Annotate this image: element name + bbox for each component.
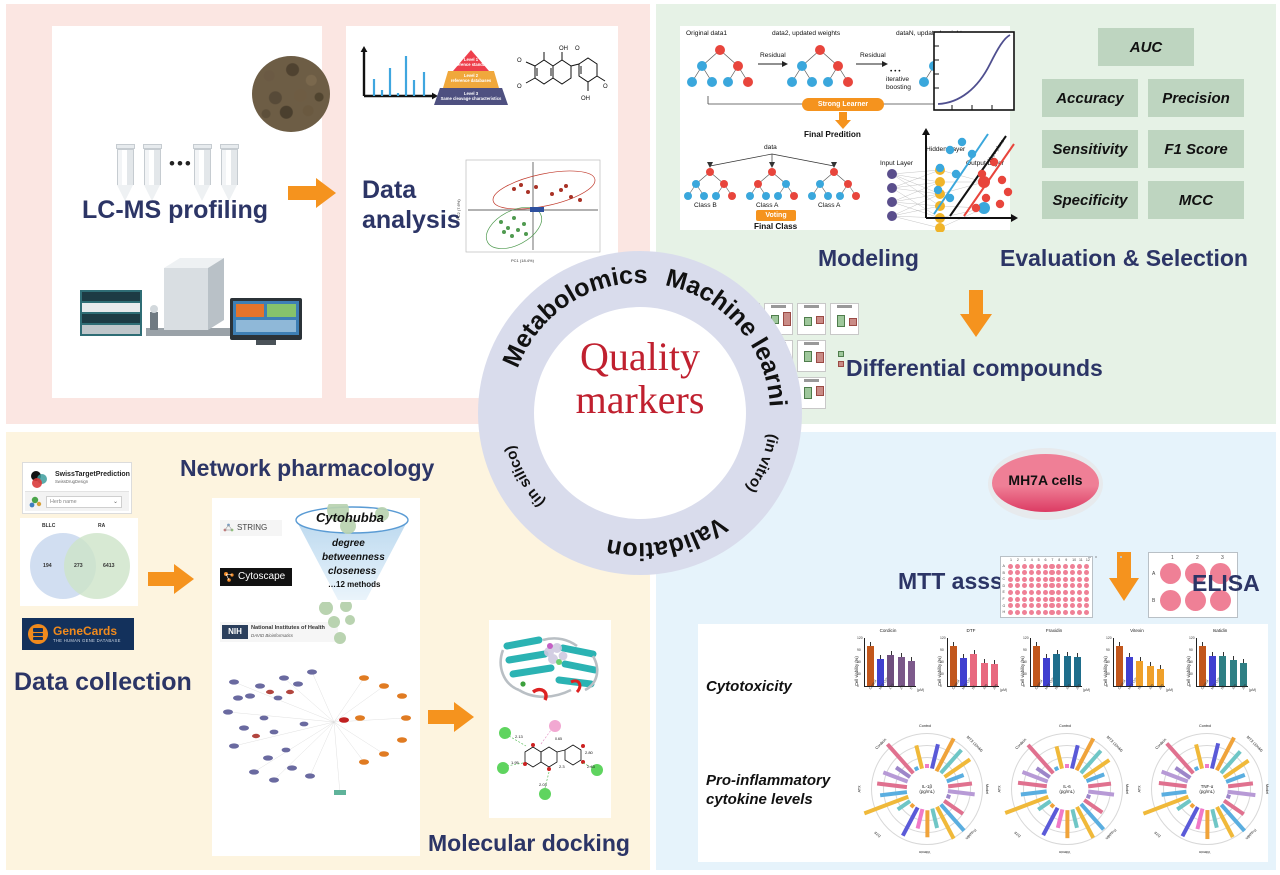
venn-count-overlap: 273 <box>74 563 83 569</box>
polar-bar <box>1065 764 1069 768</box>
polar-bar <box>1205 764 1209 768</box>
plate-well <box>1015 610 1020 615</box>
genecards-title: GeneCards <box>53 624 117 638</box>
svg-text:PC2 (7.6%): PC2 (7.6%) <box>456 199 461 220</box>
swisstarget-search-row: Herb name ⌄ <box>25 491 129 511</box>
plate-well <box>1077 597 1082 602</box>
plate-well <box>1022 583 1027 588</box>
chart-error-bar <box>963 654 964 658</box>
cytohubba-title: Cytohubba <box>316 510 384 525</box>
docking-interaction-diagram: 2.13 0.65 1.95 2.03 2.80 2.43 2.3 <box>493 716 607 812</box>
chart-y-tick: 30 <box>1189 672 1193 676</box>
svm-hyperplane-plot: Hyperplane <box>916 128 1018 228</box>
cytokine-polar-chart: IL-6(pg/mL)ControlMTX (10nM)ModelFraxidi… <box>1006 728 1128 850</box>
plate-well <box>1049 583 1054 588</box>
chart-y-tick: 0 <box>940 684 942 688</box>
elisa-plate <box>1120 556 1122 558</box>
plate-row-label: B <box>1003 571 1005 575</box>
cytoscape-logo[interactable]: Cytoscape <box>220 568 292 586</box>
roc-curve-plot <box>930 30 1018 116</box>
chart-y-axis <box>1030 638 1031 686</box>
plate-well <box>1015 583 1020 588</box>
pyramid-level-1-text: Level 1 Reference standards <box>434 57 508 67</box>
plate-well <box>1029 603 1034 608</box>
plate-well <box>1063 564 1068 569</box>
chart-y-tick: 0 <box>1106 684 1108 688</box>
plate6-col-label: 1 <box>1171 555 1174 561</box>
polar-group-label: Vitexin <box>919 850 930 854</box>
plate-well <box>1036 577 1041 582</box>
plate-well <box>1063 583 1068 588</box>
cytotoxicity-bar-chart: IsatidinCell viability (%)0306090120Cont… <box>1180 628 1260 720</box>
chart-error-bar <box>1057 650 1058 654</box>
chart-bar <box>1136 661 1143 686</box>
chart-y-tick: 60 <box>940 660 944 664</box>
chart-y-axis <box>947 638 948 686</box>
molecule-icon <box>28 495 43 510</box>
svg-text:OH: OH <box>581 96 590 102</box>
chart-error-bar <box>901 653 902 657</box>
nih-subtitle: DAVID Bioinformatics <box>251 633 293 638</box>
boxplot-box-group-b <box>849 318 857 326</box>
chart-y-tick: 30 <box>1106 672 1110 676</box>
chart-bar <box>908 661 915 686</box>
plate-well <box>1070 603 1075 608</box>
chart-y-tick: 0 <box>1023 684 1025 688</box>
svg-text:0.65: 0.65 <box>555 737 562 741</box>
boxplot-title <box>831 305 858 308</box>
cytotoxicity-bar-chart: FraxidinCell viability (%)0306090120Cont… <box>1014 628 1094 720</box>
six-well-plate <box>1095 556 1097 558</box>
plate-well <box>1029 577 1034 582</box>
plate-well <box>1070 577 1075 582</box>
chart-y-tick: 120 <box>1189 636 1195 640</box>
cytotoxicity-bar-chart: VitexinCell viability (%)0306090120Contr… <box>1097 628 1177 720</box>
plate-col-label: 4 <box>1031 558 1033 562</box>
polar-group-label: Control <box>1059 724 1071 728</box>
genecards-logo[interactable]: GeneCards THE HUMAN GENE DATABASE <box>22 618 134 650</box>
plate-well <box>1043 610 1048 615</box>
boxplot-box-group-a <box>804 387 812 399</box>
boxplot-title <box>798 342 825 345</box>
arrow-to-differential-compounds <box>958 290 994 338</box>
network-analysis-card: STRING Cytoscape NIH National Institutes… <box>212 498 420 856</box>
polar-group-label: Control <box>919 724 931 728</box>
plate-well <box>1008 577 1013 582</box>
plate-well <box>1070 597 1075 602</box>
heading-evaluation-selection: Evaluation & Selection <box>1000 245 1248 272</box>
chart-error-bar <box>1077 653 1078 657</box>
plate-well <box>1008 590 1013 595</box>
central-concept-ring: Metabolomics Machine learning (in vitro)… <box>478 251 802 575</box>
chart-y-tick: 120 <box>857 636 863 640</box>
chart-x-tick: 50 <box>1137 685 1142 690</box>
plate-well <box>1022 610 1027 615</box>
metric-mcc: MCC <box>1148 181 1244 219</box>
plate-well <box>1043 570 1048 575</box>
swisstargetprediction-widget[interactable]: SwissTargetPrediction SwissDrugDesign He… <box>22 462 132 514</box>
plate-well <box>1022 603 1027 608</box>
polar-group-label: Fraxidin <box>1104 828 1116 840</box>
venn-right-label: RA <box>98 523 105 529</box>
plate-well <box>1063 603 1068 608</box>
chart-y-tick: 120 <box>1023 636 1029 640</box>
plate-well <box>1029 583 1034 588</box>
plate-well <box>1056 570 1061 575</box>
cytokine-polar-chart: TNF-α(pg/mL)ControlMTX (10nM)ModelFraxid… <box>1146 728 1268 850</box>
plate-well <box>1056 564 1061 569</box>
arrow-network-to-docking <box>428 700 476 734</box>
plate-well <box>1077 577 1082 582</box>
chart-error-bar <box>891 651 892 655</box>
chart-y-tick: 90 <box>857 648 861 652</box>
plate-well <box>1049 564 1054 569</box>
plate-col-label: 8 <box>1058 558 1060 562</box>
chart-error-bar <box>984 659 985 663</box>
heading-differential-compounds: Differential compounds <box>846 355 1103 382</box>
final-prediction-label: Final Predition <box>804 130 861 139</box>
plate-well <box>1022 570 1027 575</box>
polar-group-label: DTF <box>1154 830 1162 838</box>
svg-text:1.95: 1.95 <box>511 760 520 765</box>
plate-well <box>1049 590 1054 595</box>
plate-row-label: C <box>1003 577 1006 581</box>
chart-y-tick: 60 <box>1023 660 1027 664</box>
plate-well <box>1043 577 1048 582</box>
metric-precision: Precision <box>1148 79 1244 117</box>
svg-text:O: O <box>603 84 608 90</box>
chart-title: Fraxidin <box>1014 628 1094 633</box>
plate-well <box>1056 583 1061 588</box>
chart-title: Isatidin <box>1180 628 1260 633</box>
sample-tube <box>194 144 211 201</box>
venn-left-label: BLLC <box>42 523 55 529</box>
svg-text:PC1 (18.4%): PC1 (18.4%) <box>511 258 535 263</box>
plate-well <box>1036 603 1041 608</box>
residual-label: Residual <box>760 52 786 59</box>
voting-tag: Voting <box>756 210 796 221</box>
plate-well <box>1084 597 1089 602</box>
arrow-to-final-prediction <box>834 112 852 129</box>
class-label: Class B <box>694 202 717 209</box>
chart-bar <box>981 663 988 686</box>
polar-group-label: Model <box>1126 784 1130 794</box>
cytotoxicity-bar-chart: CordicinCell viability (%)0306090120Cont… <box>848 628 928 720</box>
plate-well <box>1008 610 1013 615</box>
plate-well <box>1084 603 1089 608</box>
plate-well <box>1063 577 1068 582</box>
plate-well <box>1029 610 1034 615</box>
chart-x-tick: 50 <box>971 685 976 690</box>
metric-sensitivity: Sensitivity <box>1042 130 1138 168</box>
plate-well <box>1077 583 1082 588</box>
chart-bar <box>1219 656 1226 686</box>
chart-error-bar <box>953 642 954 646</box>
plate-well <box>1043 603 1048 608</box>
plate-well <box>1043 583 1048 588</box>
plate-col-label: 10 <box>1072 558 1076 562</box>
chart-error-bar <box>994 660 995 664</box>
protein-ribbon-icon <box>493 626 607 712</box>
polar-group-label: ATX <box>1137 785 1141 792</box>
chart-error-bar <box>1140 657 1141 661</box>
heading-modeling: Modeling <box>818 245 919 272</box>
boxplot-title <box>765 305 792 308</box>
plate-well <box>1070 590 1075 595</box>
plate-well <box>1022 564 1027 569</box>
cytoscape-label: Cytoscape <box>238 571 285 582</box>
plate-well <box>1063 570 1068 575</box>
cytohubba-methods-count: …12 methods <box>328 580 380 589</box>
plate-well <box>1056 603 1061 608</box>
ring-label-in-vitro: (in vitro) <box>743 433 782 496</box>
boxplot-box-group-a <box>837 315 845 327</box>
svg-text:O: O <box>517 58 522 64</box>
plate-well <box>1029 590 1034 595</box>
arrow-lcms-to-analysis <box>288 176 338 210</box>
plate-well <box>1049 610 1054 615</box>
genecards-icon <box>27 623 49 645</box>
boxplot-title <box>798 379 825 382</box>
molecular-docking-card: 2.13 0.65 1.95 2.03 2.80 2.43 2.3 <box>489 620 611 818</box>
plate-col-label: 2 <box>1017 558 1019 562</box>
boxplot-box-group-b <box>816 316 824 324</box>
chart-bar <box>970 654 977 686</box>
lcms-instrument-icon <box>80 254 330 349</box>
polar-group-label: Fraxidin <box>1244 828 1256 840</box>
plate-row-label: G <box>1003 604 1006 608</box>
pyramid-level-3-text: Level 3 Same cleavage characteristics <box>434 91 508 101</box>
boxplot-box-group-a <box>804 351 812 362</box>
plate-col-label: 9 <box>1065 558 1067 562</box>
boosting-data-label: Original data1 <box>686 30 727 37</box>
plate-well <box>1036 610 1041 615</box>
pyramid-level-2-text: Level 2 reference databases <box>434 73 508 83</box>
chart-y-tick: 90 <box>1189 648 1193 652</box>
chart-y-tick: 30 <box>940 672 944 676</box>
plate-well <box>1015 564 1020 569</box>
chart-error-bar <box>1036 642 1037 646</box>
plate-well <box>1008 564 1013 569</box>
metric-accuracy: Accuracy <box>1042 79 1138 117</box>
chart-y-axis <box>864 638 865 686</box>
lcms-card: ••• LC-MS profiling <box>52 26 322 398</box>
polar-group-label: Model <box>986 784 990 794</box>
chart-error-bar <box>870 642 871 646</box>
chart-title: DTF <box>931 628 1011 633</box>
metric-auc: AUC <box>1098 28 1194 66</box>
class-label: Class A <box>756 202 778 209</box>
nih-badge: NIH <box>222 625 248 639</box>
boxplot-box-group-b <box>783 312 791 326</box>
chart-y-tick: 0 <box>1189 684 1191 688</box>
plate-well <box>1015 603 1020 608</box>
identification-pyramid: Level 1 Reference standards Level 2 refe… <box>434 50 508 108</box>
plate-well <box>1029 564 1034 569</box>
chart-x-tick: 50 <box>1220 685 1225 690</box>
plate-well <box>1063 590 1068 595</box>
chart-x-tick: 2.5 <box>899 684 905 690</box>
assay-results-card: Cytotoxicity Pro-inflammatory cytokine l… <box>698 624 1268 862</box>
swisstarget-subtitle: SwissDrugDesign <box>55 479 88 484</box>
plate-well <box>1015 577 1020 582</box>
genecards-subtitle: THE HUMAN GENE DATABASE <box>53 638 121 643</box>
chart-x-unit: (µM) <box>917 688 924 692</box>
sample-tube <box>117 144 134 201</box>
row-label-cytotoxicity: Cytotoxicity <box>706 678 792 697</box>
chart-y-axis <box>1196 638 1197 686</box>
strong-learner-tag: Strong Learner <box>802 98 884 111</box>
plate-well <box>1036 590 1041 595</box>
plate-well <box>1084 583 1089 588</box>
figure-canvas: ••• LC-MS profiling <box>0 0 1280 875</box>
plate-well <box>1015 597 1020 602</box>
chart-y-tick: 60 <box>1189 660 1193 664</box>
plate-well <box>1070 570 1075 575</box>
boosting-data-label: data2, updated weights <box>772 30 840 37</box>
plate-well <box>1008 597 1013 602</box>
plate6-col-label: 3 <box>1221 555 1224 561</box>
plate-well <box>1022 577 1027 582</box>
boosting-ellipsis: • • • <box>890 68 901 75</box>
funnel-output-nodes <box>312 602 372 658</box>
plate-well <box>1015 590 1020 595</box>
heading-network-pharmacology: Network pharmacology <box>180 455 434 482</box>
plate-well <box>1056 597 1061 602</box>
chart-y-axis <box>1113 638 1114 686</box>
polar-group-label: DTF <box>1014 830 1022 838</box>
chart-x-unit: (µM) <box>1083 688 1090 692</box>
svg-text:O: O <box>517 84 522 90</box>
boxplot-legend <box>838 351 844 367</box>
cytoscape-icon <box>223 571 235 583</box>
chart-error-bar <box>880 655 881 659</box>
chart-bar <box>1053 654 1060 686</box>
chart-bar <box>887 655 894 686</box>
polar-bar <box>1205 810 1209 839</box>
plate6-row-label: B <box>1152 598 1155 604</box>
chart-error-bar <box>1160 665 1161 669</box>
tube-ellipsis: ••• <box>169 154 193 174</box>
herb-name-input[interactable]: Herb name ⌄ <box>46 496 122 508</box>
plate6-well <box>1160 590 1181 611</box>
plate-row-label: E <box>1003 590 1005 594</box>
plate-well <box>1029 597 1034 602</box>
plate-well <box>1070 610 1075 615</box>
polar-group-label: Fraxidin <box>964 828 976 840</box>
chart-x-tick: 50 <box>1054 685 1059 690</box>
plate-well <box>1077 603 1082 608</box>
cytohubba-method: closeness <box>328 566 376 577</box>
boxplot-box-group-b <box>816 352 824 363</box>
boxplot-cell <box>797 303 826 335</box>
ppi-network-graph <box>214 662 418 800</box>
plate-well <box>1036 564 1041 569</box>
svg-text:2.43: 2.43 <box>587 764 596 769</box>
plate-well <box>1043 597 1048 602</box>
plate-row-label: H <box>1003 610 1006 614</box>
plate-well <box>1056 577 1061 582</box>
plate-col-label: 3 <box>1024 558 1026 562</box>
plate-row-label: D <box>1003 584 1006 588</box>
cytohubba-method: betweenness <box>322 552 385 563</box>
venn-count-right: 6413 <box>103 563 115 569</box>
string-logo[interactable]: STRING <box>220 520 282 536</box>
plate-well <box>1049 603 1054 608</box>
residual-label: Residual <box>860 52 886 59</box>
chart-error-bar <box>1129 653 1130 657</box>
boxplot-box-group-b <box>816 386 824 396</box>
opls-da-scatter: PC1 (18.4%) PC2 (7.6%) <box>456 156 606 266</box>
chart-x-unit: (µM) <box>1249 688 1256 692</box>
bagging-data-label: data <box>764 144 777 151</box>
heading-data-collection: Data collection <box>14 668 192 697</box>
sample-tube <box>144 144 161 201</box>
chart-x-unit: (µM) <box>1000 688 1007 692</box>
sample-tube <box>221 144 238 201</box>
plate-well <box>1008 583 1013 588</box>
cell-culture-dish: MH7A cells <box>988 448 1103 520</box>
svg-text:2.13: 2.13 <box>515 734 524 739</box>
polar-group-label: Model <box>1266 784 1270 794</box>
svg-text:O: O <box>575 46 580 52</box>
plate-row-label: F <box>1003 597 1005 601</box>
plate-col-label: 7 <box>1051 558 1053 562</box>
chart-x-tick: 5 <box>909 686 913 690</box>
chart-y-tick: 60 <box>857 660 861 664</box>
metric-specificity: Specificity <box>1042 181 1138 219</box>
plate-well <box>1084 590 1089 595</box>
chart-title: Vitexin <box>1097 628 1177 633</box>
chart-error-bar <box>1067 652 1068 656</box>
plate-well <box>1070 583 1075 588</box>
plate-col-label: 11 <box>1079 558 1083 562</box>
polar-group-label: ATX <box>857 785 861 792</box>
chart-error-bar <box>1046 654 1047 658</box>
iterative-boosting-label: iterative boosting <box>886 76 911 91</box>
plate-col-label: 6 <box>1045 558 1047 562</box>
plate-well <box>1063 597 1068 602</box>
plate-well <box>1043 564 1048 569</box>
plate-well <box>1077 610 1082 615</box>
plate-well <box>1049 570 1054 575</box>
chevron-down-icon[interactable]: ⌄ <box>113 498 118 505</box>
plate-well <box>1077 564 1082 569</box>
heading-elisa-label: ELISA <box>1192 570 1260 597</box>
ring-label-validation: Validation <box>604 511 733 565</box>
class-label: Class A <box>818 202 840 209</box>
string-label: STRING <box>237 523 267 532</box>
flavonoid-structure-icon: OH O O O O OH <box>511 40 611 118</box>
swisstarget-title: SwissTargetPrediction <box>55 471 130 478</box>
plate6-row-label: A <box>1152 571 1155 577</box>
polar-group-label: Cordicin <box>1015 738 1028 751</box>
svg-text:2.03: 2.03 <box>539 782 548 787</box>
heading-molecular-docking: Molecular docking <box>428 830 630 857</box>
center-title: Quality markers <box>478 335 802 421</box>
chart-error-bar <box>1202 642 1203 646</box>
plate-col-label: 5 <box>1038 558 1040 562</box>
polar-group-label: Vitexin <box>1199 850 1210 854</box>
plate-col-label: 12 <box>1086 558 1090 562</box>
boxplot-cell <box>830 303 859 335</box>
plate-well <box>1036 583 1041 588</box>
chart-y-tick: 90 <box>1023 648 1027 652</box>
herb-sample-icon <box>252 56 330 132</box>
row-label-cytokines: Pro-inflammatory cytokine levels <box>706 772 830 810</box>
chart-y-tick: 30 <box>857 672 861 676</box>
chart-title: Cordicin <box>848 628 928 633</box>
